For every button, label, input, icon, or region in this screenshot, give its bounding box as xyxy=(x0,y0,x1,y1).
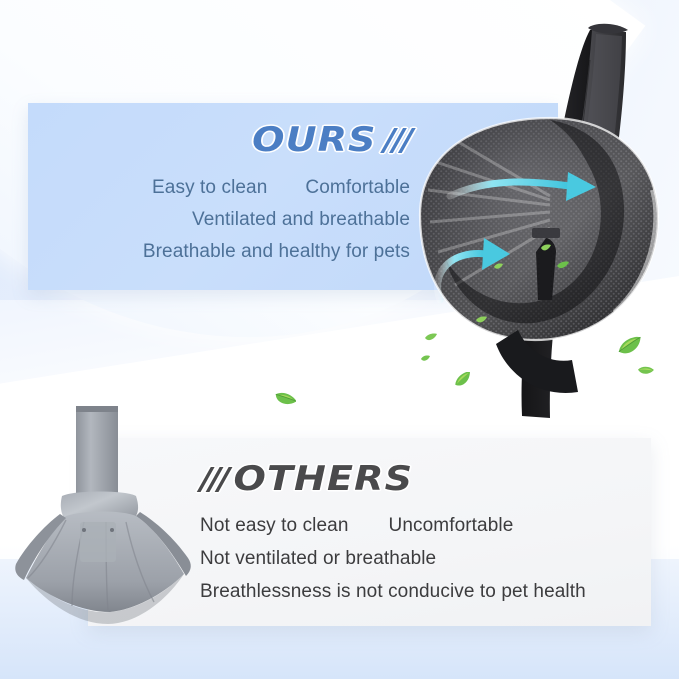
leaf-icon xyxy=(493,258,504,276)
others-feature-uncomfortable: Uncomfortable xyxy=(389,515,514,537)
others-slashes-icon: /// xyxy=(200,462,227,497)
comparison-infographic: OURS /// Easy to clean Comfortable Venti… xyxy=(0,0,679,679)
leaf-icon xyxy=(556,258,570,276)
others-feature-breathlessness: Breathlessness is not conducive to pet h… xyxy=(200,581,586,603)
ours-title: OURS xyxy=(252,120,377,160)
leaf-icon xyxy=(615,336,645,363)
others-feature-row-1: Not easy to clean Uncomfortable xyxy=(200,515,513,537)
ours-title-row: OURS /// xyxy=(252,120,410,160)
ours-feature-comfortable: Comfortable xyxy=(305,177,410,199)
others-feature-not-easy-to-clean: Not easy to clean xyxy=(200,515,349,537)
leaf-icon xyxy=(636,364,654,383)
leaf-icon xyxy=(420,350,431,368)
ours-content: OURS /// Easy to clean Comfortable Venti… xyxy=(28,103,416,290)
leaf-icon xyxy=(475,312,488,330)
leaf-icon xyxy=(424,330,438,348)
ours-feature-easy-to-clean: Easy to clean xyxy=(152,177,267,199)
others-title: OTHERS xyxy=(233,459,413,499)
leaf-icon xyxy=(272,390,296,415)
leaf-icon xyxy=(540,240,552,258)
others-title-row: /// OTHERS xyxy=(200,459,413,499)
ours-feature-row-1: Easy to clean Comfortable xyxy=(152,177,410,199)
others-content: /// OTHERS Not easy to clean Uncomfortab… xyxy=(200,438,660,626)
leaf-icon xyxy=(452,372,474,393)
ours-feature-healthy: Breathable and healthy for pets xyxy=(143,241,410,263)
others-feature-not-ventilated: Not ventilated or breathable xyxy=(200,548,436,570)
ours-slashes-icon: /// xyxy=(383,123,410,158)
ours-feature-ventilated: Ventilated and breathable xyxy=(192,209,410,231)
